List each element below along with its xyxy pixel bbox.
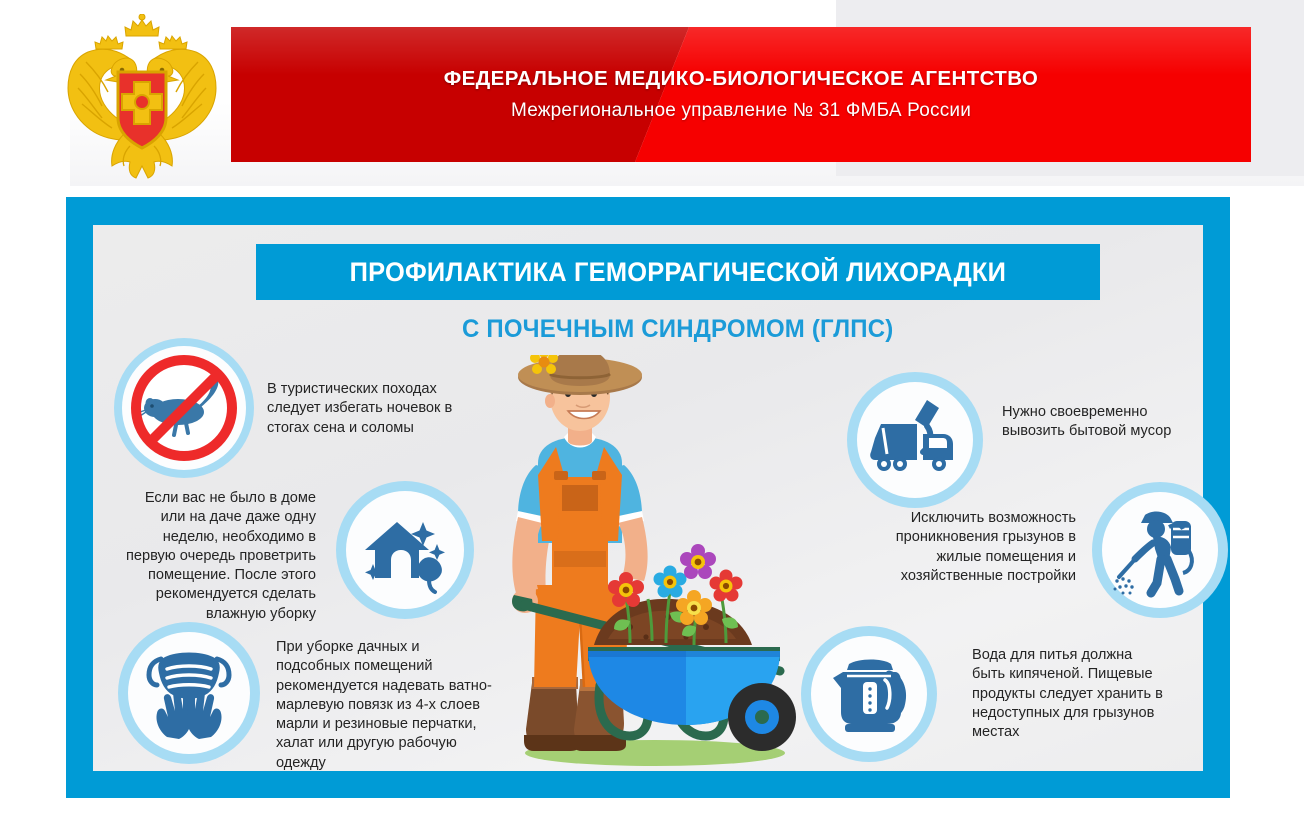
garbage-truck-icon xyxy=(847,372,983,508)
tip-text-house-cleaning: Если вас не было в доме или на даче даже… xyxy=(120,489,316,624)
fmba-coat-of-arms-emblem xyxy=(62,14,222,180)
header-white-panel xyxy=(0,0,70,186)
mask-and-gloves-icon xyxy=(118,622,260,764)
poster-subtitle: С ПОЧЕЧНЫМ СИНДРОМОМ (ГЛПС) xyxy=(462,315,893,344)
tip-text-pest-control: Исключить возможность проникновения грыз… xyxy=(880,509,1076,586)
page-header: ФЕДЕРАЛЬНОЕ МЕДИКО-БИОЛОГИЧЕСКОЕ АГЕНТСТ… xyxy=(0,0,1304,186)
poster-title: ПРОФИЛАКТИКА ГЕМОРРАГИЧЕСКОЙ ЛИХОРАДКИ xyxy=(350,257,1006,288)
agency-title: ФЕДЕРАЛЬНОЕ МЕДИКО-БИОЛОГИЧЕСКОЕ АГЕНТСТ… xyxy=(444,67,1039,91)
pest-control-sprayer-glyph xyxy=(1109,499,1211,601)
agency-banner: ФЕДЕРАЛЬНОЕ МЕДИКО-БИОЛОГИЧЕСКОЕ АГЕНТСТ… xyxy=(231,27,1251,162)
poster-title-bar: ПРОФИЛАКТИКА ГЕМОРРАГИЧЕСКОЙ ЛИХОРАДКИ xyxy=(256,244,1100,300)
gardener-with-wheelbarrow-illustration xyxy=(480,355,800,770)
house-cleaning-icon xyxy=(336,481,474,619)
tip-text-kettle: Вода для питья должна быть кипяченой. Пи… xyxy=(972,646,1168,742)
electric-kettle-icon xyxy=(801,626,937,762)
tip-text-no-rodents: В туристических походах следует избегать… xyxy=(267,380,477,438)
tip-text-mask-and-gloves: При уборке дачных и подсобных помещений … xyxy=(276,638,492,773)
mask-and-gloves-glyph xyxy=(137,641,241,745)
garbage-truck-glyph xyxy=(865,390,965,490)
department-title: Межрегиональное управление № 31 ФМБА Рос… xyxy=(511,100,971,122)
tip-text-garbage-truck: Нужно своевременно вывозить бытовой мусо… xyxy=(1002,403,1192,442)
poster-subtitle-wrap: С ПОЧЕЧНЫМ СИНДРОМОМ (ГЛПС) xyxy=(256,313,1100,345)
no-rodents-icon xyxy=(114,338,254,478)
house-cleaning-glyph xyxy=(357,502,453,598)
electric-kettle-glyph xyxy=(823,648,915,740)
pest-control-sprayer-icon xyxy=(1092,482,1228,618)
no-rodents-glyph xyxy=(126,350,242,466)
